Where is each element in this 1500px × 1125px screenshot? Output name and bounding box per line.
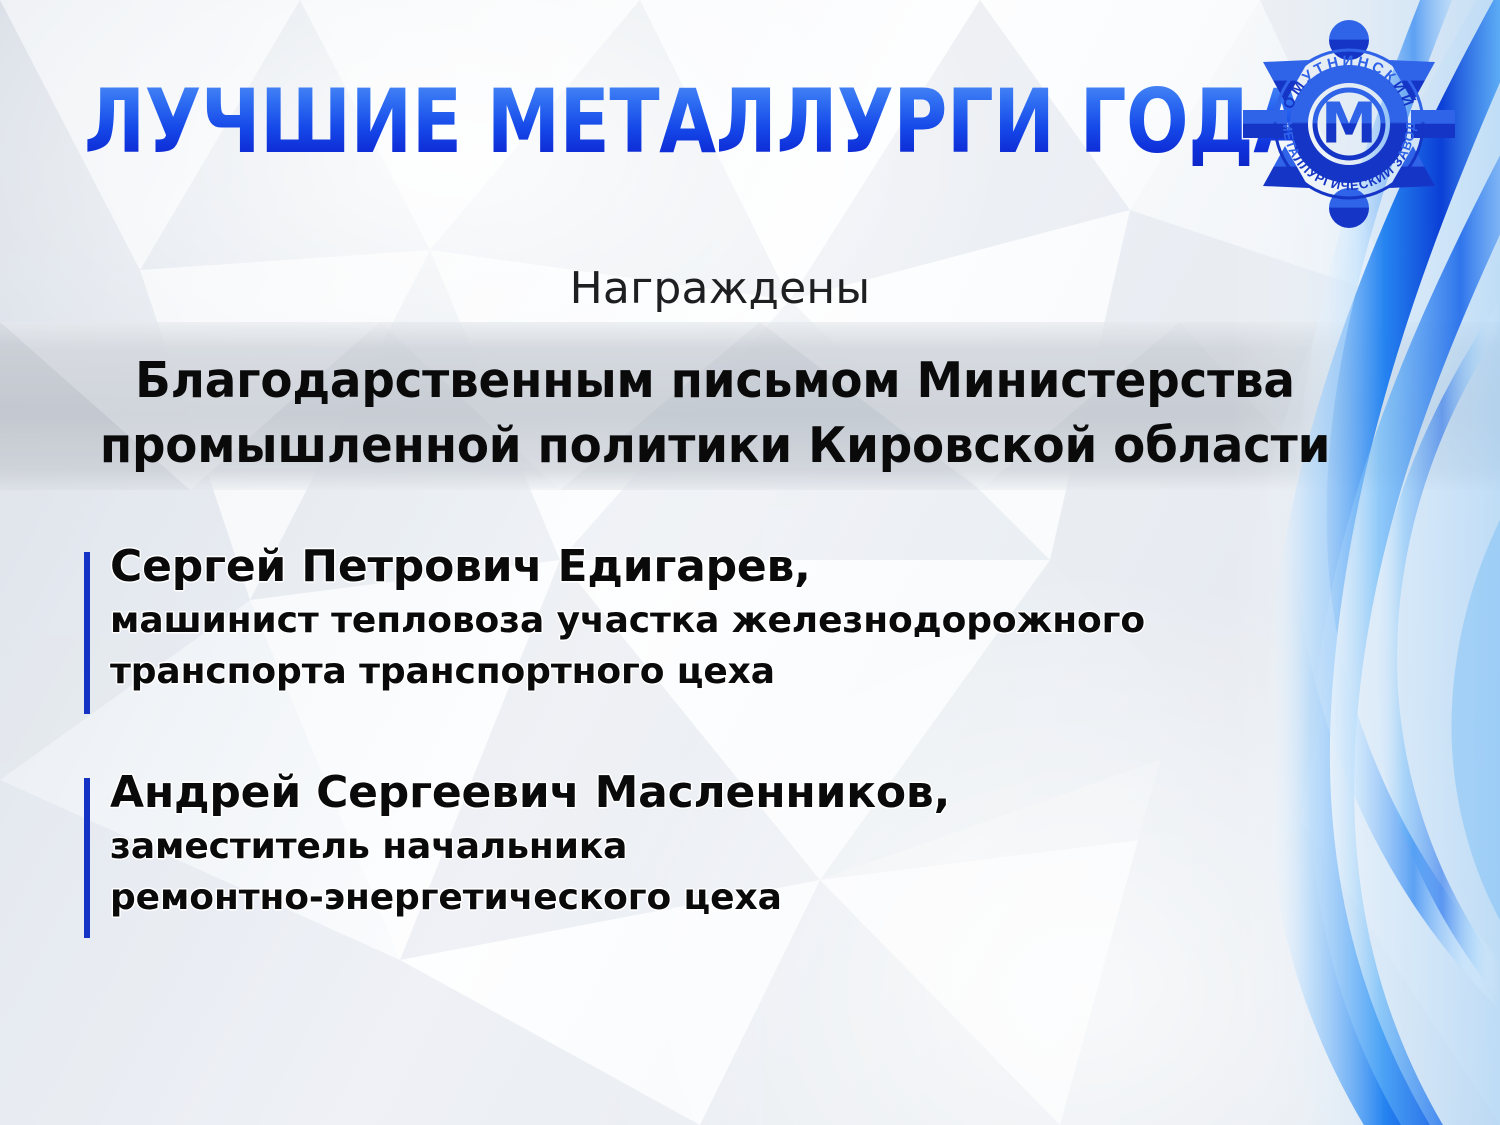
honoree-name: Андрей Сергеевич Масленников, — [110, 768, 950, 817]
honoree-role: машинист тепловоза участка железнодорожн… — [110, 595, 1145, 697]
honoree-role-line-2: ремонтно-энергетического цеха — [110, 872, 950, 923]
company-logo: ОМУТНИНСКИЙ МЕТАЛЛУРГИЧЕСКИЙ ЗАВОД М — [1243, 18, 1455, 230]
honoree-name: Сергей Петрович Едигарев, — [110, 542, 1145, 591]
honoree-role: заместитель начальника ремонтно-энергети… — [110, 821, 950, 923]
honoree-role-line-1: машинист тепловоза участка железнодорожн… — [110, 595, 1145, 646]
award-heading-line-2: промышленной политики Кировской области — [32, 413, 1398, 478]
honoree-entry: Сергей Петрович Едигарев, машинист тепло… — [84, 542, 1145, 697]
subtitle-awarded: Награждены — [0, 263, 1440, 314]
honoree-entry: Андрей Сергеевич Масленников, заместител… — [84, 768, 950, 923]
award-heading-line-1: Благодарственным письмом Министерства — [32, 348, 1398, 413]
logo-monogram: М — [1321, 92, 1377, 157]
honoree-role-line-1: заместитель начальника — [110, 821, 950, 872]
honoree-role-line-2: транспорта транспортного цеха — [110, 646, 1145, 697]
award-heading: Благодарственным письмом Министерства пр… — [32, 348, 1398, 478]
page-title: ЛУЧШИЕ МЕТАЛЛУРГИ ГОДА — [84, 78, 1310, 166]
accent-bar — [84, 552, 90, 714]
presentation-slide: ЛУЧШИЕ МЕТАЛЛУРГИ ГОДА — [0, 0, 1500, 1125]
accent-bar — [84, 778, 90, 938]
